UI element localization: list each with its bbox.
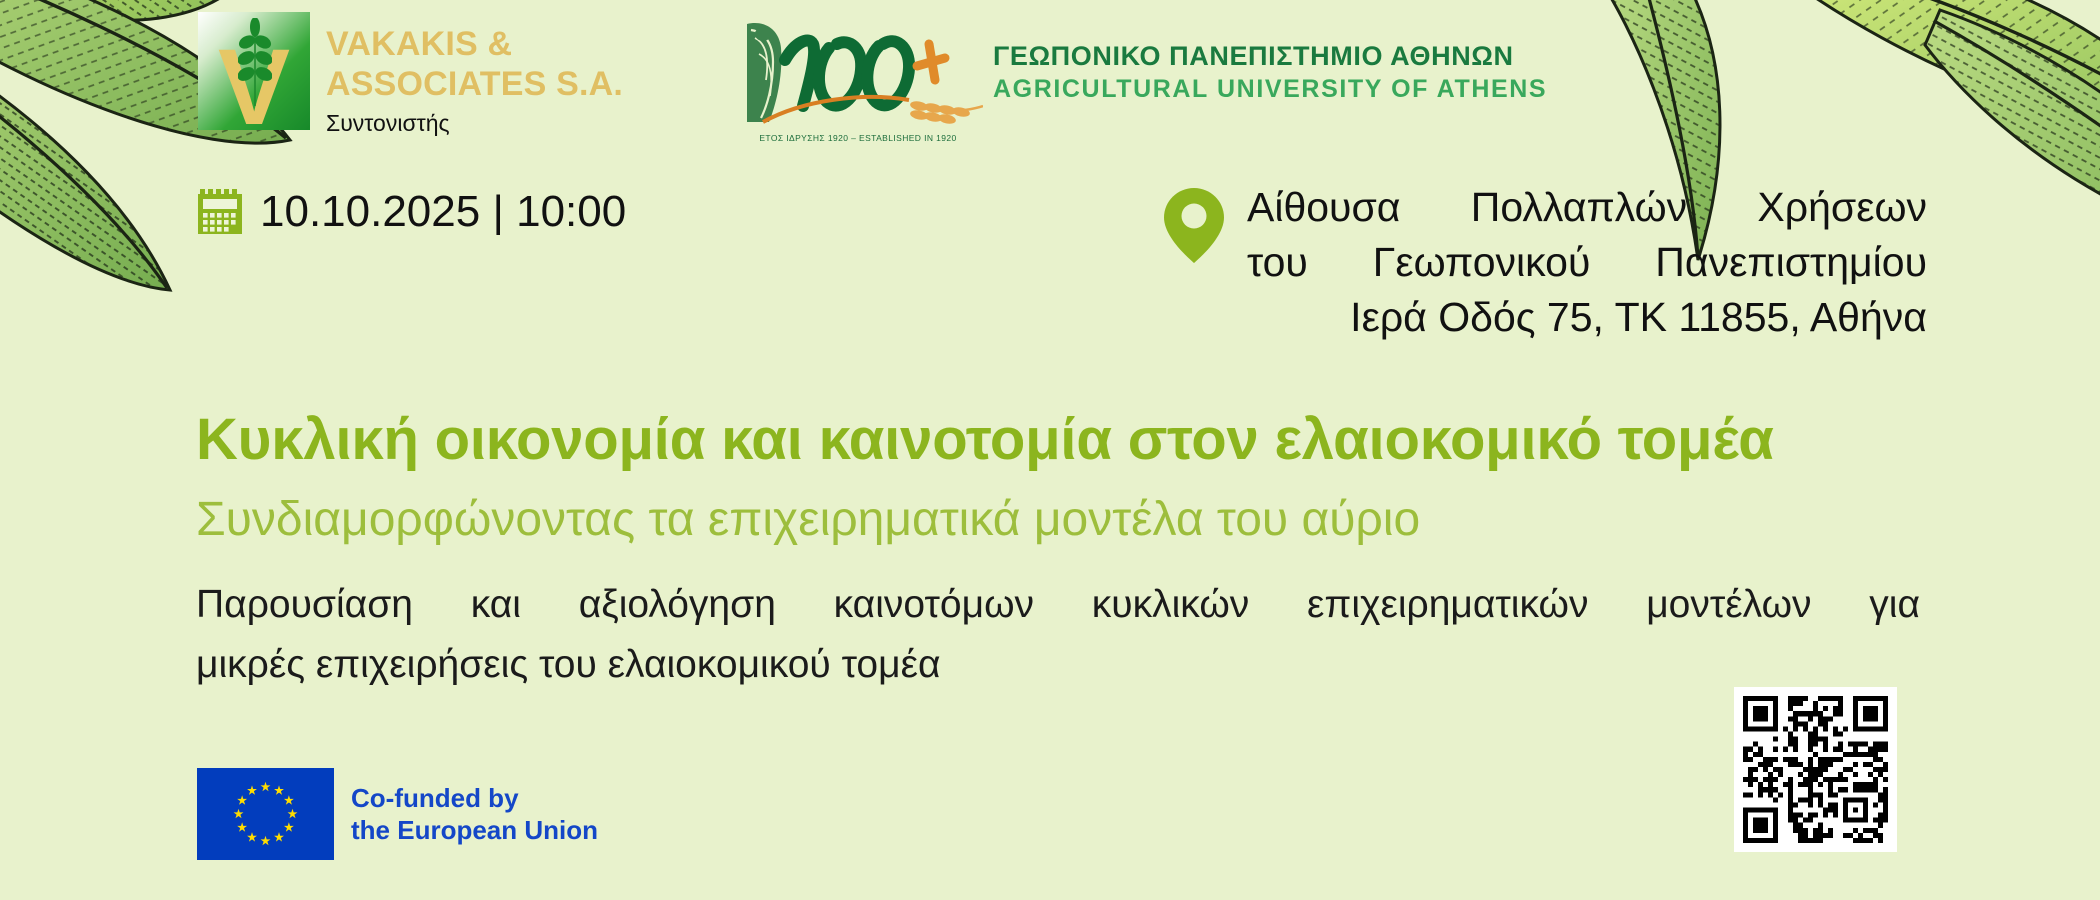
eu-funding-line1: Co-funded by — [351, 782, 598, 814]
vakakis-wheat-v-icon: V — [198, 12, 310, 130]
page-subtitle: Συνδιαμορφώνοντας τα επιχειρηματικά μοντ… — [196, 492, 1916, 548]
page-title: Κυκλική οικονομία και καινοτομία στον ελ… — [196, 408, 1916, 472]
venue-line-3: Ιερά Οδός 75, ΤΚ 11855, Αθήνα — [1247, 290, 1927, 345]
event-venue-block: Αίθουσα Πολλαπλών Χρήσεων του Γεωπονικού… — [1163, 180, 1927, 345]
event-date-block: 10.10.2025 | 10:00 — [196, 188, 626, 236]
venue-line-2: του Γεωπονικού Πανεπιστημίου — [1247, 235, 1927, 290]
description-line-1: Παρουσίαση και αξιολόγηση καινοτόμων κυκ… — [196, 575, 1920, 635]
logo-bar: V VAKAKIS & ASSOCIATES S.A. Συντονιστής — [0, 0, 2100, 150]
map-pin-icon — [1163, 186, 1225, 264]
description-line-2: μικρές επιχειρήσεις του ελαιοκομικού τομ… — [196, 635, 1920, 695]
vakakis-name-line1: VAKAKIS & — [326, 24, 623, 64]
vakakis-logo: V VAKAKIS & ASSOCIATES S.A. Συντονιστής — [198, 12, 623, 140]
eu-funding-line2: the European Union — [351, 814, 598, 846]
eu-funding-logo: Co-funded by the European Union — [197, 768, 598, 860]
vakakis-name-line2: ASSOCIATES S.A. — [326, 64, 623, 104]
aua-logo: ΕΤΟΣ ΙΔΡΥΣΗΣ 1920 – ESTABLISHED IN 1920 … — [733, 14, 1547, 142]
wheat-icon — [238, 18, 272, 106]
qr-code-image — [1743, 696, 1888, 843]
calendar-icon — [196, 188, 244, 236]
qr-code[interactable] — [1734, 687, 1897, 852]
eu-flag-icon — [197, 768, 334, 860]
venue-line-1: Αίθουσα Πολλαπλών Χρήσεων — [1247, 180, 1927, 235]
event-date-time: 10.10.2025 | 10:00 — [260, 188, 626, 236]
aua-name-english: AGRICULTURAL UNIVERSITY OF ATHENS — [993, 73, 1547, 105]
aua-established-text: ΕΤΟΣ ΙΔΡΥΣΗΣ 1920 – ESTABLISHED IN 1920 — [743, 133, 973, 143]
aua-100-anniversary-icon: ΕΤΟΣ ΙΔΡΥΣΗΣ 1920 – ESTABLISHED IN 1920 — [733, 14, 983, 142]
vakakis-role: Συντονιστής — [326, 106, 623, 140]
page-description: Παρουσίαση και αξιολόγηση καινοτόμων κυκ… — [196, 575, 1920, 695]
event-banner: V VAKAKIS & ASSOCIATES S.A. Συντονιστής — [0, 0, 2100, 900]
aua-name-greek: ΓΕΩΠΟΝΙΚΟ ΠΑΝΕΠΙΣΤΗΜΙΟ ΑΘΗΝΩΝ — [993, 39, 1547, 73]
